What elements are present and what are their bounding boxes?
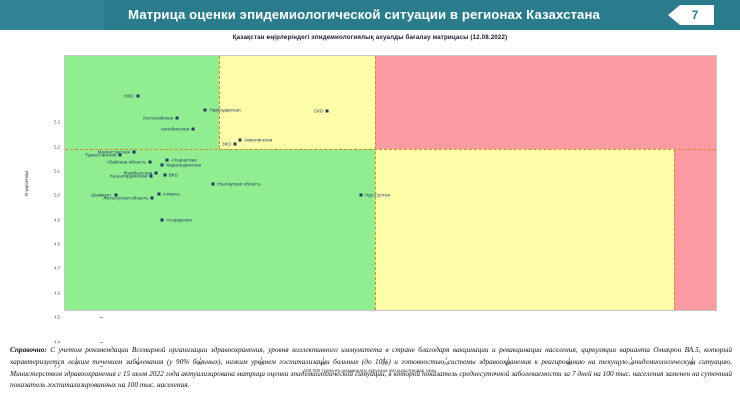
scatter-plot-area: НКОПавлодарскаяСКОКостанайскаяАктюбинска…: [64, 55, 717, 311]
data-point: [204, 109, 207, 112]
data-point-label: Туркестанская: [85, 152, 117, 157]
y-axis-ticks: 5,35,25,15,04,94,84,74,64,54,44,3: [40, 101, 60, 357]
data-point-label: Павлодарская: [209, 108, 240, 113]
threshold-line-vertical-mid: [375, 56, 376, 310]
y-tick-label: 4,6: [54, 290, 60, 295]
data-point-label: Алматы: [163, 191, 180, 196]
data-point-label: Карагандинская: [166, 163, 201, 168]
y-tick-label: 4,9: [54, 217, 60, 222]
data-point: [161, 219, 164, 222]
data-point: [359, 193, 362, 196]
data-point-label: Актюбинская: [161, 127, 189, 132]
data-point: [163, 174, 166, 177]
data-point-label: Кызылординская: [110, 174, 147, 179]
data-point-label: ВКО: [169, 173, 178, 178]
data-point-label: Жетысуская область: [103, 195, 148, 200]
data-point: [326, 110, 329, 113]
data-point: [149, 161, 152, 164]
threshold-line-vertical-high: [674, 149, 675, 310]
data-point: [119, 153, 122, 156]
data-point: [157, 192, 160, 195]
data-point: [176, 117, 179, 120]
data-point-label: Нур-Султан: [365, 192, 391, 197]
zone-yellow-top: [219, 56, 375, 149]
data-point: [166, 158, 169, 161]
data-point: [155, 172, 158, 175]
data-point-label: Абайская область: [107, 160, 146, 165]
chart-container: R-көрсеткіші 5,35,25,15,04,94,84,74,64,5…: [0, 46, 740, 336]
header-bar: Матрица оценки эпидемиологической ситуац…: [0, 0, 740, 30]
zone-red-top: [375, 56, 716, 149]
data-point-label: Атырауская: [166, 218, 192, 223]
zone-red-bottom: [674, 149, 716, 310]
data-point: [136, 95, 139, 98]
page-number-text: 7: [692, 8, 699, 22]
data-point: [150, 175, 153, 178]
page-number-badge: 7: [668, 5, 714, 25]
threshold-line-horizontal: [65, 149, 716, 150]
y-tick-label: 4,5: [54, 315, 60, 320]
data-point-label: СКО: [314, 109, 324, 114]
data-point-label: Акмолинская: [244, 138, 272, 143]
data-point: [211, 182, 214, 185]
y-tick-label: 5,1: [54, 168, 60, 173]
data-point: [238, 139, 241, 142]
data-point: [161, 164, 164, 167]
footnote-lead: Справочно:: [10, 345, 47, 354]
data-point: [132, 150, 135, 153]
threshold-line-vertical-low: [219, 56, 220, 149]
data-point: [151, 196, 154, 199]
data-point-label: НКО: [124, 94, 134, 99]
y-tick-label: 4,8: [54, 242, 60, 247]
data-point-label: Костанайская: [143, 116, 173, 121]
data-point-label: Улытауская область: [217, 181, 261, 186]
data-point: [234, 143, 237, 146]
y-tick-label: 5,3: [54, 120, 60, 125]
data-point-label: Атырауская: [171, 157, 197, 162]
footnote-body: С учетом рекомендации Всемирной организа…: [10, 345, 732, 389]
header-accent: [0, 0, 104, 30]
y-tick-label: 5,2: [54, 144, 60, 149]
y-axis-label: R-көрсеткіші: [24, 171, 29, 196]
data-point: [192, 128, 195, 131]
y-tick-mark: [100, 342, 103, 343]
y-tick-label: 4,7: [54, 266, 60, 271]
page-title: Матрица оценки эпидемиологической ситуац…: [104, 0, 624, 30]
y-tick-mark: [100, 317, 103, 318]
footnote-text: Справочно: С учетом рекомендации Всемирн…: [10, 344, 732, 391]
zone-yellow-bottom: [375, 149, 674, 310]
data-point-label: ЗКО: [222, 142, 231, 147]
chart-subtitle: Қазақстан өңірлеріндегі эпидемиологиялық…: [0, 34, 740, 41]
y-tick-label: 5,0: [54, 193, 60, 198]
